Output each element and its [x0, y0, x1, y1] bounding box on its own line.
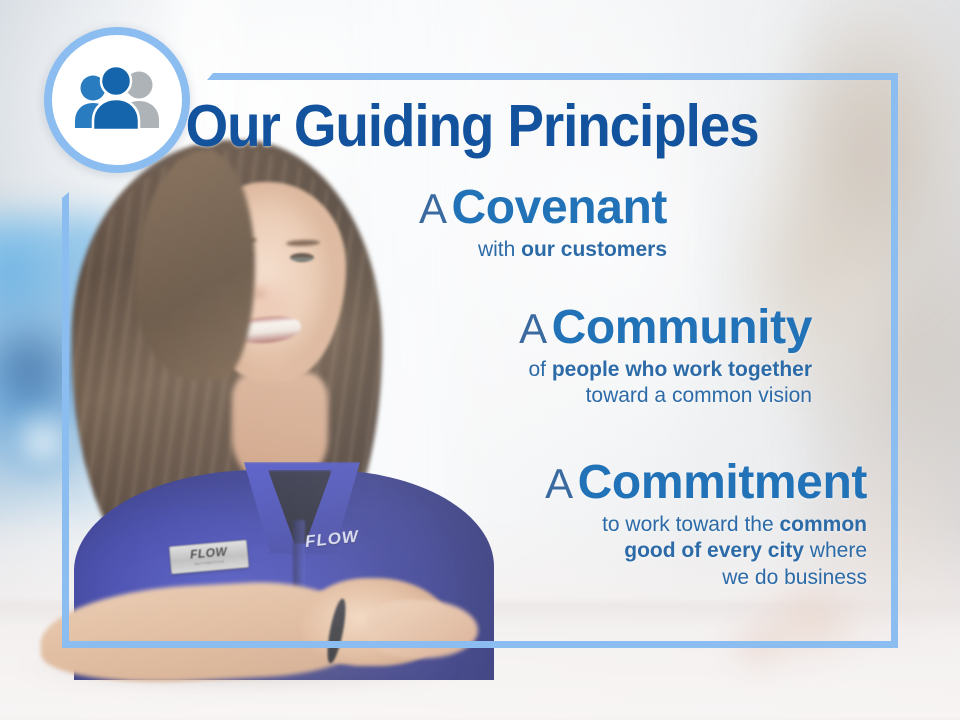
- principle-covenant-article: A: [419, 185, 447, 232]
- subtext-run: with: [478, 238, 521, 261]
- subtext-run: of: [528, 358, 551, 381]
- principle-community: A Community of people who work togethert…: [62, 303, 812, 410]
- principle-community-title: A Community: [62, 303, 812, 353]
- subtext-emphasis: good of every city: [624, 539, 804, 562]
- subtext-line: good of every city where: [62, 538, 867, 564]
- text-content: Our Guiding Principles A Covenant with o…: [62, 73, 898, 648]
- subtext-line: to work toward the common: [62, 512, 867, 538]
- principle-community-keyword: Community: [552, 301, 812, 354]
- principle-commitment-subtext: to work toward the commongood of every c…: [62, 512, 867, 591]
- subtext-emphasis: common: [779, 513, 867, 536]
- principle-covenant-keyword: Covenant: [452, 181, 668, 234]
- principle-commitment: A Commitment to work toward the commongo…: [62, 458, 867, 591]
- principle-covenant-subtext: with our customers: [62, 237, 667, 263]
- principle-covenant: A Covenant with our customers: [62, 183, 667, 263]
- subtext-line: we do business: [62, 565, 867, 591]
- principle-commitment-title: A Commitment: [62, 458, 867, 508]
- subtext-run: we do business: [722, 566, 867, 589]
- subtext-emphasis: our customers: [521, 238, 667, 261]
- principle-commitment-article: A: [545, 460, 573, 507]
- guiding-principles-graphic: FLOW FLOW AUTOMOTIVE: [0, 0, 960, 720]
- principle-community-subtext: of people who work togethertoward a comm…: [62, 357, 812, 410]
- principle-community-article: A: [519, 305, 547, 352]
- subtext-run: toward a common vision: [586, 384, 812, 407]
- principle-commitment-keyword: Commitment: [578, 456, 867, 509]
- subtext-run: to work toward the: [602, 513, 779, 536]
- page-title: Our Guiding Principles: [91, 97, 854, 156]
- principle-covenant-title: A Covenant: [62, 183, 667, 233]
- subtext-line: toward a common vision: [62, 383, 812, 409]
- subtext-line: with our customers: [62, 237, 667, 263]
- subtext-run: where: [804, 539, 867, 562]
- subtext-line: of people who work together: [62, 357, 812, 383]
- subtext-emphasis: people who work together: [552, 358, 812, 381]
